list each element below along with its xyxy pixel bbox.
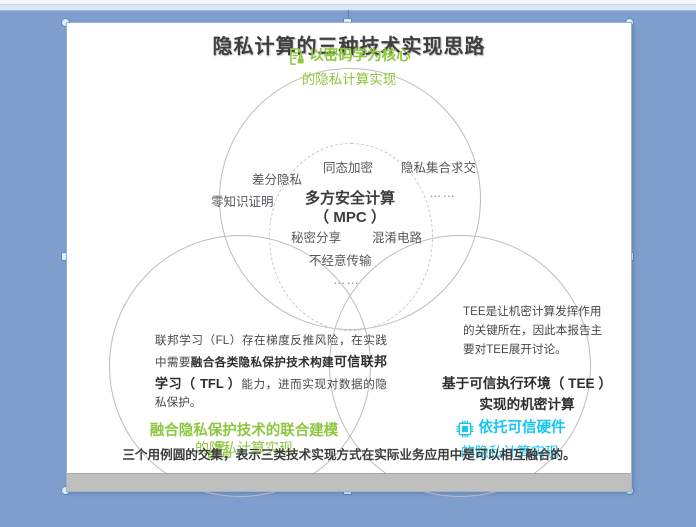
term-homomorphic-encryption: 同态加密 xyxy=(323,157,373,176)
presentation-editor-backdrop: 隐私计算的三种技术实现思路 xyxy=(0,0,696,527)
term-garbled-circuit: 混淆电路 xyxy=(372,227,422,246)
term-private-set-intersection: 隐私集合求交 xyxy=(401,157,476,176)
federated-learning-paragraph: 联邦学习（FL）存在梯度反推风险，在实践中需要融合各类隐私保护技术构建可信联邦学… xyxy=(155,332,387,413)
term-zero-knowledge-proof: 零知识证明 xyxy=(211,191,274,210)
slide-footer-caption: 三个用例圆的交集，表示三类技术实现方式在实际业务应用中是可以相互融合的。 xyxy=(67,444,631,463)
cryptography-heading-bold: 以密码学为核心 xyxy=(309,48,411,66)
slide-bottom-bar xyxy=(67,473,631,491)
slide-canvas[interactable]: 隐私计算的三种技术实现思路 xyxy=(66,22,632,492)
fl-label-bold: 融合隐私保护技术的联合建模 xyxy=(119,423,369,440)
tee-label-bold: 依托可信硬件 xyxy=(479,420,566,437)
ellipsis-bottom: …… xyxy=(333,273,360,287)
tee-paragraph-line2: 的关键所在，因此本报告主 xyxy=(463,322,649,341)
mpc-core-label-line2: （ MPC ） xyxy=(269,206,431,227)
term-differential-privacy: 差分隐私 xyxy=(252,169,302,188)
tee-paragraph-line1: TEE是让机密计算发挥作用 xyxy=(463,303,649,322)
term-oblivious-transfer: 不经意传输 xyxy=(309,250,372,269)
mpc-core-label-line1: 多方安全计算 xyxy=(269,187,431,208)
tee-title-line1: 基于可信执行环境（ TEE ） xyxy=(397,373,657,394)
term-secret-sharing: 秘密分享 xyxy=(291,227,341,246)
fl-paragraph-line2-bold: 融合各类隐私保护技 xyxy=(191,356,298,369)
ellipsis-right: …… xyxy=(429,186,456,200)
slide-content: 隐私计算的三种技术实现思路 xyxy=(67,23,631,491)
tee-title: 基于可信执行环境（ TEE ） 实现的机密计算 xyxy=(397,373,657,415)
fl-paragraph-line3-small: 术构建 xyxy=(298,356,334,369)
tee-paragraph-line3: 要对TEE展开讨论。 xyxy=(463,341,649,360)
document-lock-icon xyxy=(287,47,306,66)
fl-paragraph-line1: 联邦学习（FL）存在梯度反推风险， xyxy=(155,334,351,347)
tee-title-line2: 实现的机密计算 xyxy=(397,394,657,415)
cpu-chip-icon xyxy=(455,419,475,439)
tee-paragraph: TEE是让机密计算发挥作用 的关键所在，因此本报告主 要对TEE展开讨论。 xyxy=(463,303,649,359)
cryptography-heading-sub: 的隐私计算实现 xyxy=(67,72,631,88)
cryptography-heading: 以密码学为核心 的隐私计算实现 xyxy=(67,47,631,88)
